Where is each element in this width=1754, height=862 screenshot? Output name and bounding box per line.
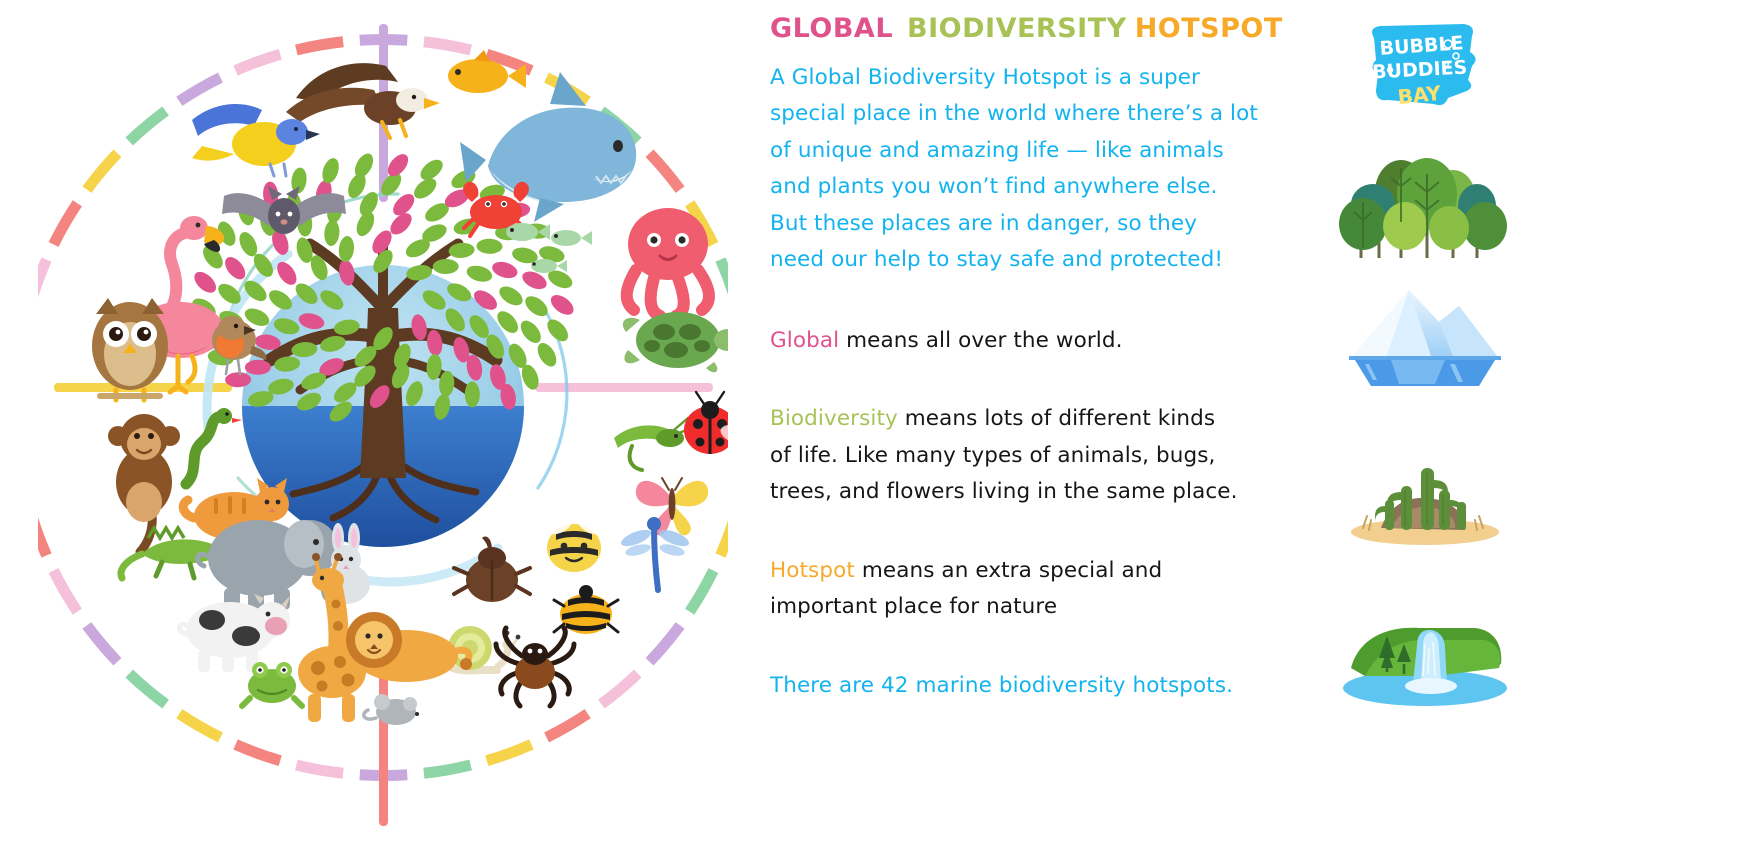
ladybug-illustration (684, 392, 728, 454)
ring-segment (179, 714, 220, 738)
ring-segment (296, 42, 343, 50)
cow-illustration (179, 594, 290, 672)
ring-segment (129, 111, 165, 142)
desert-illustration (1335, 428, 1515, 548)
definition-text: means all over the world. (839, 328, 1122, 353)
intro-line: But these places are in danger, so they (770, 211, 1197, 236)
bubble-buddies-bay-logo[interactable]: BUBBLE BUDDIES BAY (1360, 22, 1484, 122)
grasshopper-illustration (614, 418, 692, 470)
snake-illustration (186, 408, 242, 484)
intro-line: A Global Biodiversity Hotspot is a super (770, 65, 1200, 90)
ring-segment (547, 714, 588, 738)
spoke-right (535, 383, 713, 392)
tree-leaf (517, 317, 545, 347)
intro-line: of unique and amazing life — like animal… (770, 138, 1224, 163)
intro-paragraph: A Global Biodiversity Hotspot is a super… (770, 60, 1290, 279)
tree-leaf (191, 268, 220, 297)
tree-leaf (547, 291, 577, 319)
ring-segment (179, 78, 220, 102)
tree-leaf (290, 167, 308, 195)
infographic-page: GLOBALBIODIVERSITYHOTSPOT A Global Biodi… (0, 0, 1754, 862)
iceberg-illustration (1335, 272, 1515, 392)
bee-illustration (539, 505, 612, 572)
tree-leaf (433, 259, 459, 274)
definition-text: trees, and flowers living in the same pl… (770, 479, 1238, 504)
waterfall-illustration (1335, 588, 1515, 708)
ring-segment (424, 42, 471, 50)
definition-text: means lots of different kinds (898, 406, 1215, 431)
page-title: GLOBALBIODIVERSITYHOTSPOT (770, 14, 1290, 44)
definition-biodiversity: Biodiversity means lots of different kin… (770, 401, 1290, 511)
content-column: GLOBALBIODIVERSITYHOTSPOT A Global Biodi… (770, 14, 1290, 704)
tree-leaf (534, 340, 560, 370)
tree-leaf (337, 235, 355, 263)
intro-line: need our help to stay safe and protected… (770, 247, 1223, 272)
logo-line-3: BAY (1396, 81, 1442, 109)
ring-segment (87, 625, 118, 661)
wheel-svg (38, 8, 728, 854)
forest-illustration (1335, 140, 1515, 260)
ring-segment (38, 511, 47, 556)
keyword-biodiversity: Biodiversity (770, 406, 898, 431)
ring-segment (650, 153, 681, 189)
ring-segment (650, 625, 681, 661)
tree-leaf (465, 263, 494, 284)
ring-segment (54, 203, 78, 244)
definition-text: means an extra special and (855, 558, 1162, 583)
keyword-global: Global (770, 328, 839, 353)
ring-segment (690, 571, 714, 612)
ring-segment (424, 765, 471, 773)
title-word-global: GLOBAL (770, 13, 893, 44)
ring-segment (87, 153, 118, 189)
clownfish-illustration (448, 50, 526, 93)
definition-global: Global means all over the world. (770, 323, 1290, 360)
ring-segment (54, 571, 78, 612)
octopus-illustration (627, 208, 709, 316)
ring-segment (601, 674, 637, 705)
spider-illustration (496, 628, 574, 706)
keyword-hotspot: Hotspot (770, 558, 855, 583)
ring-segment (296, 765, 343, 773)
title-word-hotspot: HOTSPOT (1135, 13, 1283, 44)
definition-text: of life. Like many types of animals, bug… (770, 443, 1216, 468)
mouse-illustration (364, 694, 419, 725)
ring-segment (236, 54, 281, 70)
tree-leaf (496, 283, 526, 310)
tree-leaf (323, 219, 340, 246)
tree-leaf (476, 239, 502, 255)
eagle-illustration (286, 63, 440, 138)
ring-segment (487, 744, 532, 760)
ring-segment (720, 260, 728, 305)
ring-segment (236, 744, 281, 760)
habitat-rail: BUBBLE BUDDIES BAY (1330, 0, 1754, 862)
definition-text: important place for nature (770, 594, 1057, 619)
tree-leaf (319, 156, 341, 185)
definition-hotspot: Hotspot means an extra special and impor… (770, 553, 1290, 626)
ring-segment (38, 260, 47, 305)
title-word-biodiversity: BIODIVERSITY (907, 13, 1127, 44)
butterfly-illustration (636, 478, 708, 535)
ring-segment (129, 674, 165, 705)
marine-hotspot-fact: There are 42 marine biodiversity hotspot… (770, 668, 1290, 704)
ring-segment (720, 511, 728, 556)
biodiversity-wheel (38, 8, 728, 854)
sea-turtle-illustration (623, 312, 728, 372)
intro-line: special place in the world where there’s… (770, 101, 1258, 126)
tree-leaf (490, 259, 519, 281)
intro-line: and plants you won’t find anywhere else. (770, 174, 1217, 199)
